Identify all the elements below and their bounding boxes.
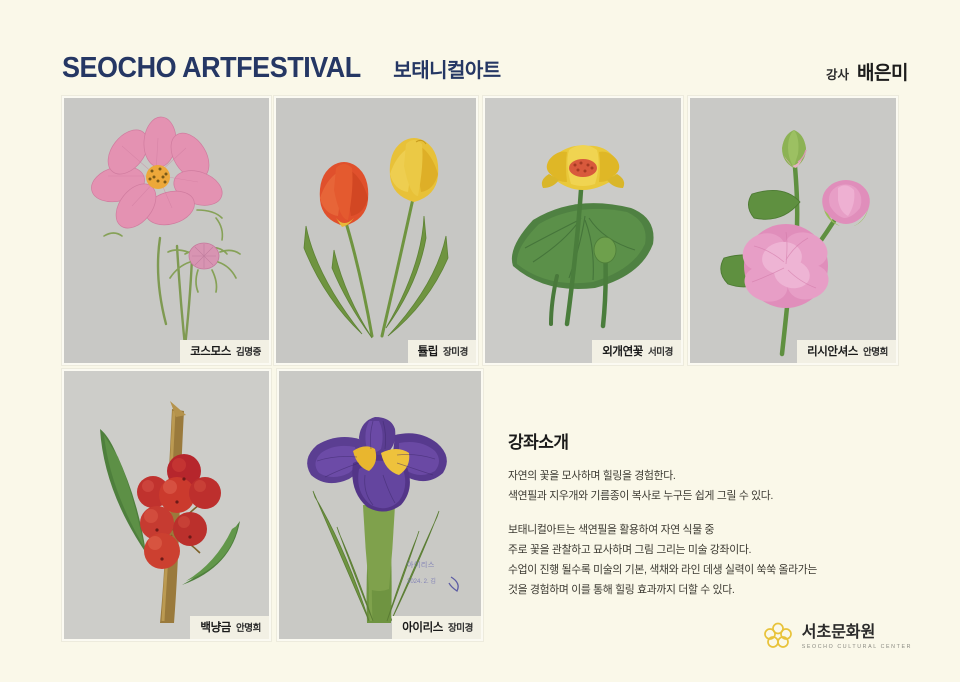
artwork-card-iris[interactable]: 아이리스 2024. 2. 김 아이리스 장미경	[277, 369, 483, 641]
artwork-author-name: 안명희	[863, 344, 888, 358]
artwork-flower-name: 외개연꽃	[602, 343, 643, 359]
artwork-image-lisianthus	[690, 98, 896, 363]
artwork-image-berries	[64, 371, 269, 639]
course-description-paragraph-1: 자연의 꽃을 모사하며 힐링을 경험한다. 색연필과 지우개와 기름종이 복사로…	[508, 467, 858, 507]
svg-text:2024. 2. 김: 2024. 2. 김	[407, 578, 436, 585]
artwork-flower-name: 백냥금	[200, 619, 231, 635]
organization-logo: 서초문화원 SEOCHO CULTURAL CENTER	[763, 621, 912, 654]
artwork-flower-name: 코스모스	[190, 343, 231, 359]
instructor-name: 배은미	[857, 58, 908, 85]
artwork-caption: 코스모스 김명중	[180, 340, 269, 363]
artwork-author-name: 안명희	[236, 620, 261, 634]
artwork-author-name: 장미경	[443, 344, 468, 358]
artwork-image-tulip	[276, 98, 476, 363]
artwork-card-tulip[interactable]: 튤립 장미경	[274, 96, 478, 365]
page-title-en: SEOCHO ARTFESTIVAL	[62, 52, 361, 85]
artwork-caption: 외개연꽃 서미경	[592, 340, 681, 363]
artwork-flower-name: 아이리스	[402, 619, 443, 635]
instructor-label: 강사	[826, 64, 849, 83]
course-description: 강좌소개 자연의 꽃을 모사하며 힐링을 경험한다. 색연필과 지우개와 기름종…	[508, 428, 858, 601]
poster-root: SEOCHO ARTFESTIVAL 보태니컬아트 강사 배은미	[0, 0, 960, 682]
course-description-heading: 강좌소개	[508, 428, 858, 453]
artwork-card-lisianthus[interactable]: 리시안셔스 안명희	[688, 96, 898, 365]
artwork-author-name: 서미경	[648, 344, 673, 358]
artwork-caption: 아이리스 장미경	[392, 616, 481, 639]
logo-name-en: SEOCHO CULTURAL CENTER	[802, 645, 912, 650]
instructor-block: 강사 배은미	[826, 58, 908, 85]
artwork-caption: 튤립 장미경	[408, 340, 476, 363]
artwork-card-water-lily[interactable]: 외개연꽃 서미경	[483, 96, 683, 365]
artwork-caption: 리시안셔스 안명희	[797, 340, 896, 363]
course-description-paragraph-2: 보태니컬아트는 색연필을 활용하여 자연 식물 중 주로 꽃을 관찰하고 묘사하…	[508, 521, 858, 601]
logo-text-block: 서초문화원 SEOCHO CULTURAL CENTER	[802, 625, 912, 650]
artwork-image-iris: 아이리스 2024. 2. 김	[279, 371, 481, 639]
artwork-author-name: 장미경	[448, 620, 473, 634]
artwork-card-cosmos[interactable]: 코스모스 김명중	[62, 96, 271, 365]
artwork-author-name: 김명중	[236, 344, 261, 358]
flower-mark-icon	[763, 621, 793, 654]
title-row: SEOCHO ARTFESTIVAL 보태니컬아트	[62, 52, 908, 85]
artwork-card-berries[interactable]: 백냥금 안명희	[62, 369, 271, 641]
artwork-caption: 백냥금 안명희	[190, 616, 269, 639]
artwork-image-cosmos	[64, 98, 269, 363]
poster-header: SEOCHO ARTFESTIVAL 보태니컬아트 강사 배은미	[62, 52, 908, 90]
artwork-image-water-lily	[485, 98, 681, 363]
logo-name-ko: 서초문화원	[802, 625, 912, 641]
page-title-ko: 보태니컬아트	[393, 54, 500, 83]
artwork-flower-name: 튤립	[418, 343, 438, 359]
artwork-flower-name: 리시안셔스	[807, 343, 858, 359]
svg-text:아이리스: 아이리스	[407, 560, 435, 569]
